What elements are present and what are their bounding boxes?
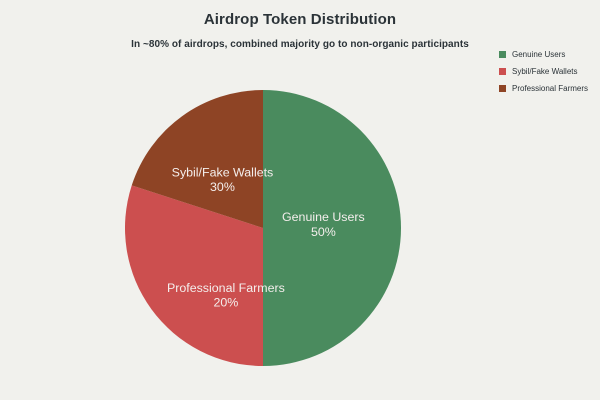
legend-label: Sybil/Fake Wallets — [512, 67, 578, 77]
slice-value-sybil-fake-wallets: 30% — [210, 180, 235, 194]
slice-label-sybil-fake-wallets: Sybil/Fake Wallets — [172, 165, 274, 179]
pie-chart-figure: Airdrop Token Distribution In ~80% of ai… — [0, 0, 600, 400]
pie-plot-area: Genuine Users 50% Sybil/Fake Wallets 30%… — [125, 90, 401, 366]
legend-label: Professional Farmers — [512, 84, 588, 94]
slice-label-professional-farmers: Professional Farmers — [167, 281, 285, 295]
legend-item-sybil-fake-wallets[interactable]: Sybil/Fake Wallets — [499, 63, 600, 80]
legend-item-genuine-users[interactable]: Genuine Users — [499, 46, 600, 63]
slice-label-genuine-users: Genuine Users — [282, 210, 365, 224]
chart-legend: Genuine Users Sybil/Fake Wallets Profess… — [499, 46, 600, 97]
pie-svg: Genuine Users 50% Sybil/Fake Wallets 30%… — [125, 90, 401, 366]
slice-value-genuine-users: 50% — [311, 225, 336, 239]
legend-swatch-icon — [499, 51, 506, 58]
legend-swatch-icon — [499, 68, 506, 75]
legend-swatch-icon — [499, 85, 506, 92]
chart-title: Airdrop Token Distribution — [0, 11, 600, 28]
legend-item-professional-farmers[interactable]: Professional Farmers — [499, 80, 600, 97]
legend-label: Genuine Users — [512, 50, 565, 60]
slice-value-professional-farmers: 20% — [213, 295, 238, 309]
